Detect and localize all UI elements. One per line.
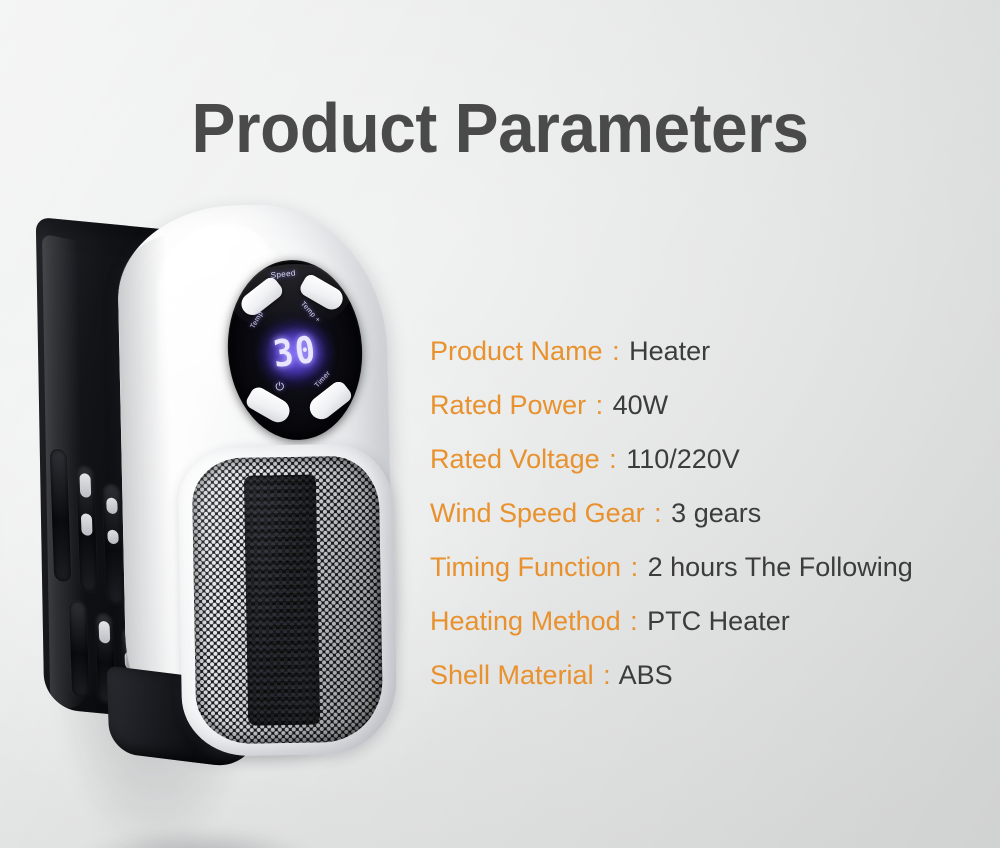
spec-label: Wind Speed Gear bbox=[430, 498, 645, 528]
spec-value: 3 gears bbox=[671, 498, 761, 528]
led-temperature-display: 30 bbox=[226, 322, 364, 382]
spec-row-wind-speed-gear: Wind Speed Gear : 3 gears bbox=[430, 486, 990, 540]
spec-value: ABS bbox=[619, 660, 673, 690]
spec-label: Heating Method bbox=[430, 606, 621, 636]
spec-value: 110/220V bbox=[626, 444, 740, 474]
spec-value: 2 hours The Following bbox=[648, 552, 913, 582]
fan-grille-mesh bbox=[192, 455, 384, 744]
ptc-heating-element bbox=[244, 474, 320, 725]
spec-label: Product Name bbox=[430, 336, 603, 366]
spec-separator: : bbox=[628, 606, 640, 636]
spec-separator: : bbox=[610, 336, 622, 366]
product-ground-shadow bbox=[50, 805, 380, 848]
spec-label: Rated Voltage bbox=[430, 444, 600, 474]
spec-row-product-name: Product Name : Heater bbox=[430, 324, 990, 378]
specification-list: Product Name : Heater Rated Power : 40W … bbox=[430, 324, 990, 702]
spec-row-rated-voltage: Rated Voltage : 110/220V bbox=[430, 432, 990, 486]
spec-separator: : bbox=[629, 552, 641, 582]
spec-label: Timing Function bbox=[430, 552, 621, 582]
spec-row-shell-material: Shell Material : ABS bbox=[430, 648, 990, 702]
spec-separator: : bbox=[652, 498, 664, 528]
spec-row-timing-function: Timing Function : 2 hours The Following bbox=[430, 540, 990, 594]
fan-grille-rim bbox=[177, 443, 397, 757]
spec-value: Heater bbox=[629, 336, 710, 366]
spec-value: PTC Heater bbox=[647, 606, 790, 636]
spec-value: 40W bbox=[613, 390, 669, 420]
spec-separator: : bbox=[594, 390, 606, 420]
spec-label: Rated Power bbox=[430, 390, 586, 420]
product-image-heater: Speed Temp - Temp + ⏻ Timer 30 bbox=[30, 205, 400, 765]
spec-label: Shell Material bbox=[430, 660, 594, 690]
spec-separator: : bbox=[607, 444, 619, 474]
spec-row-heating-method: Heating Method : PTC Heater bbox=[430, 594, 990, 648]
spec-row-rated-power: Rated Power : 40W bbox=[430, 378, 990, 432]
product-parameters-page: Product Parameters bbox=[0, 0, 1000, 848]
power-icon: ⏻ bbox=[275, 381, 286, 395]
page-title: Product Parameters bbox=[30, 88, 970, 168]
spec-separator: : bbox=[601, 660, 613, 690]
